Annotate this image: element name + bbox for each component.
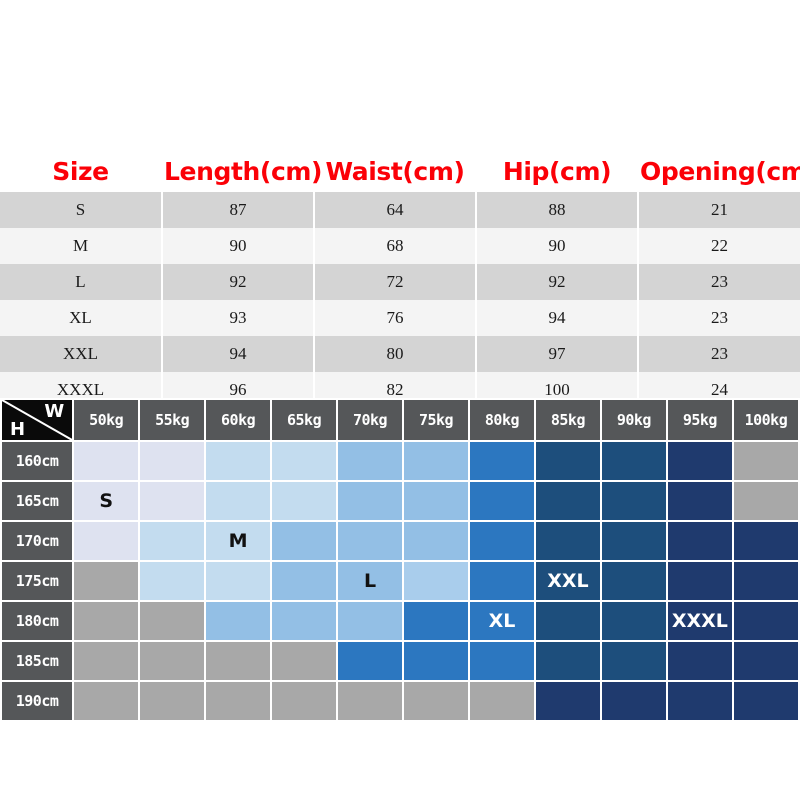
matrix-cell — [536, 602, 600, 640]
measurement-cell-opening: 23 — [638, 300, 800, 336]
matrix-cell — [74, 602, 138, 640]
axis-corner-cell: W H — [2, 400, 72, 440]
matrix-cell — [338, 522, 402, 560]
height-header-165cm: 165cm — [2, 482, 72, 520]
matrix-cell — [536, 482, 600, 520]
measurement-header-opening-cm: Opening(cm) — [638, 150, 800, 192]
matrix-cell — [338, 602, 402, 640]
measurement-cell-opening: 23 — [638, 336, 800, 372]
matrix-cell — [536, 682, 600, 720]
measurement-cell-size: XL — [0, 300, 162, 336]
matrix-table-body: 160cm165cmS170cmM175cmLXXL180cmXLXXXL185… — [2, 442, 798, 720]
measurement-cell-opening: 22 — [638, 228, 800, 264]
measurement-cell-length: 92 — [162, 264, 314, 300]
matrix-cell — [734, 482, 798, 520]
matrix-cell — [272, 522, 336, 560]
measurement-cell-hip: 88 — [476, 192, 638, 228]
matrix-cell — [470, 562, 534, 600]
height-header-185cm: 185cm — [2, 642, 72, 680]
matrix-cell — [140, 562, 204, 600]
measurement-cell-waist: 64 — [314, 192, 476, 228]
measurement-cell-waist: 76 — [314, 300, 476, 336]
measurement-cell-opening: 23 — [638, 264, 800, 300]
matrix-cell — [140, 442, 204, 480]
matrix-cell — [140, 642, 204, 680]
matrix-cell — [668, 642, 732, 680]
weight-header-80kg: 80kg — [470, 400, 534, 440]
matrix-cell — [74, 642, 138, 680]
weight-header-85kg: 85kg — [536, 400, 600, 440]
size-marker-XXXL: XXXL — [668, 602, 732, 640]
matrix-cell — [140, 522, 204, 560]
matrix-cell — [404, 562, 468, 600]
matrix-cell — [272, 442, 336, 480]
matrix-cell — [470, 522, 534, 560]
matrix-cell — [404, 482, 468, 520]
table-row: XXL94809723 — [0, 336, 800, 372]
matrix-cell — [74, 682, 138, 720]
matrix-cell — [206, 442, 270, 480]
measurement-cell-size: M — [0, 228, 162, 264]
weight-header-95kg: 95kg — [668, 400, 732, 440]
matrix-cell — [470, 642, 534, 680]
measurement-cell-size: S — [0, 192, 162, 228]
measurement-cell-size: L — [0, 264, 162, 300]
height-weight-matrix-container: W H 50kg55kg60kg65kg70kg75kg80kg85kg90kg… — [0, 398, 800, 722]
matrix-cell — [206, 642, 270, 680]
weight-header-70kg: 70kg — [338, 400, 402, 440]
measurement-header-row: SizeLength(cm)Waist(cm)Hip(cm)Opening(cm… — [0, 150, 800, 192]
height-header-180cm: 180cm — [2, 602, 72, 640]
matrix-cell — [206, 602, 270, 640]
measurement-cell-hip: 94 — [476, 300, 638, 336]
matrix-row: 190cm — [2, 682, 798, 720]
table-row: M90689022 — [0, 228, 800, 264]
measurement-table-container: SizeLength(cm)Waist(cm)Hip(cm)Opening(cm… — [0, 150, 800, 408]
table-row: S87648821 — [0, 192, 800, 228]
matrix-cell — [602, 482, 666, 520]
matrix-cell — [338, 682, 402, 720]
measurement-cell-length: 94 — [162, 336, 314, 372]
matrix-cell — [536, 642, 600, 680]
matrix-cell — [404, 642, 468, 680]
measurement-cell-length: 87 — [162, 192, 314, 228]
height-header-190cm: 190cm — [2, 682, 72, 720]
weight-header-50kg: 50kg — [74, 400, 138, 440]
matrix-cell — [602, 682, 666, 720]
matrix-cell — [404, 522, 468, 560]
weight-header-75kg: 75kg — [404, 400, 468, 440]
matrix-cell — [272, 642, 336, 680]
matrix-row: 170cmM — [2, 522, 798, 560]
matrix-cell — [602, 602, 666, 640]
measurement-cell-hip: 92 — [476, 264, 638, 300]
measurement-header-waist-cm: Waist(cm) — [314, 150, 476, 192]
matrix-cell — [338, 642, 402, 680]
matrix-cell — [734, 522, 798, 560]
matrix-cell — [140, 682, 204, 720]
size-marker-XXL: XXL — [536, 562, 600, 600]
measurement-cell-waist: 80 — [314, 336, 476, 372]
matrix-cell — [668, 522, 732, 560]
matrix-cell — [668, 442, 732, 480]
matrix-cell — [206, 562, 270, 600]
size-marker-S: S — [74, 482, 138, 520]
matrix-row: 175cmLXXL — [2, 562, 798, 600]
measurement-cell-length: 90 — [162, 228, 314, 264]
matrix-cell — [668, 562, 732, 600]
matrix-cell — [470, 442, 534, 480]
matrix-cell — [338, 442, 402, 480]
matrix-row: 180cmXLXXXL — [2, 602, 798, 640]
matrix-cell — [206, 682, 270, 720]
size-marker-M: M — [206, 522, 270, 560]
height-header-175cm: 175cm — [2, 562, 72, 600]
size-marker-L: L — [338, 562, 402, 600]
matrix-cell — [734, 562, 798, 600]
matrix-cell — [734, 642, 798, 680]
measurement-header-size: Size — [0, 150, 162, 192]
matrix-cell — [404, 682, 468, 720]
matrix-cell — [602, 642, 666, 680]
measurement-cell-hip: 97 — [476, 336, 638, 372]
matrix-cell — [206, 482, 270, 520]
weight-header-60kg: 60kg — [206, 400, 270, 440]
measurement-table-head: SizeLength(cm)Waist(cm)Hip(cm)Opening(cm… — [0, 150, 800, 192]
matrix-cell — [734, 442, 798, 480]
matrix-cell — [140, 602, 204, 640]
weight-axis-label: W — [44, 401, 64, 422]
table-row: L92729223 — [0, 264, 800, 300]
measurement-table-body: S87648821M90689022L92729223XL93769423XXL… — [0, 192, 800, 408]
matrix-row: 165cmS — [2, 482, 798, 520]
matrix-table-head: W H 50kg55kg60kg65kg70kg75kg80kg85kg90kg… — [2, 400, 798, 440]
matrix-cell — [140, 482, 204, 520]
size-chart-page: SizeLength(cm)Waist(cm)Hip(cm)Opening(cm… — [0, 0, 800, 800]
matrix-cell — [272, 482, 336, 520]
matrix-cell — [734, 602, 798, 640]
matrix-cell — [74, 562, 138, 600]
matrix-cell — [272, 682, 336, 720]
measurement-header-length-cm: Length(cm) — [162, 150, 314, 192]
matrix-cell — [734, 682, 798, 720]
matrix-cell — [668, 482, 732, 520]
height-weight-matrix: W H 50kg55kg60kg65kg70kg75kg80kg85kg90kg… — [0, 398, 800, 722]
measurement-cell-waist: 68 — [314, 228, 476, 264]
matrix-cell — [272, 562, 336, 600]
matrix-row: 185cm — [2, 642, 798, 680]
height-header-170cm: 170cm — [2, 522, 72, 560]
matrix-cell — [272, 602, 336, 640]
size-marker-XL: XL — [470, 602, 534, 640]
measurement-header-hip-cm: Hip(cm) — [476, 150, 638, 192]
matrix-cell — [602, 442, 666, 480]
matrix-cell — [602, 522, 666, 560]
matrix-cell — [536, 442, 600, 480]
weight-header-100kg: 100kg — [734, 400, 798, 440]
measurement-cell-size: XXL — [0, 336, 162, 372]
matrix-cell — [74, 522, 138, 560]
height-header-160cm: 160cm — [2, 442, 72, 480]
matrix-cell — [74, 442, 138, 480]
matrix-cell — [602, 562, 666, 600]
matrix-cell — [470, 482, 534, 520]
matrix-header-row: W H 50kg55kg60kg65kg70kg75kg80kg85kg90kg… — [2, 400, 798, 440]
measurement-cell-waist: 72 — [314, 264, 476, 300]
weight-header-65kg: 65kg — [272, 400, 336, 440]
table-row: XL93769423 — [0, 300, 800, 336]
matrix-cell — [404, 602, 468, 640]
weight-header-55kg: 55kg — [140, 400, 204, 440]
measurement-cell-opening: 21 — [638, 192, 800, 228]
matrix-cell — [404, 442, 468, 480]
measurement-cell-hip: 90 — [476, 228, 638, 264]
matrix-cell — [536, 522, 600, 560]
weight-header-90kg: 90kg — [602, 400, 666, 440]
measurement-cell-length: 93 — [162, 300, 314, 336]
matrix-cell — [668, 682, 732, 720]
matrix-row: 160cm — [2, 442, 798, 480]
height-axis-label: H — [10, 419, 25, 440]
measurement-table: SizeLength(cm)Waist(cm)Hip(cm)Opening(cm… — [0, 150, 800, 408]
matrix-cell — [338, 482, 402, 520]
matrix-cell — [470, 682, 534, 720]
